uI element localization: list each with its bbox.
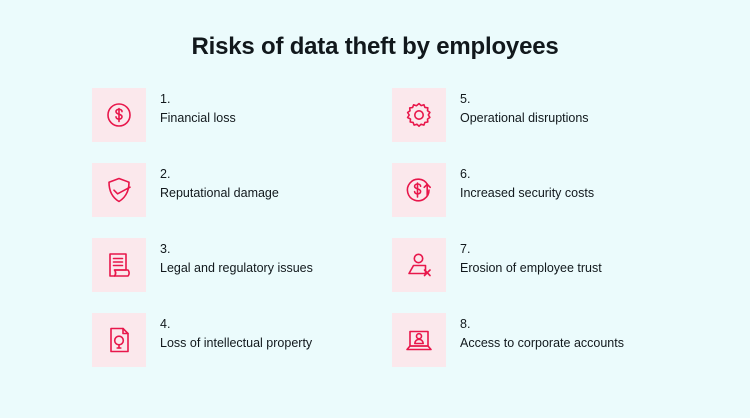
item-text: 8. Access to corporate accounts [460,313,624,351]
item-label: Erosion of employee trust [460,261,602,277]
document-scroll-icon [103,249,135,281]
dollar-circle-arrow-up-icon [403,174,435,206]
person-x-icon [403,249,435,281]
item-label: Access to corporate accounts [460,336,624,352]
shield-check-icon [103,174,135,206]
item-number: 1. [160,93,236,107]
item-label: Loss of intellectual property [160,336,312,352]
icon-tile [92,163,146,217]
item-number: 7. [460,243,602,257]
list-item: 8. Access to corporate accounts [392,313,664,388]
item-text: 3. Legal and regulatory issues [160,238,313,276]
item-label: Financial loss [160,111,236,127]
item-number: 3. [160,243,313,257]
list-item: 6. Increased security costs [392,163,664,238]
document-lightbulb-icon [103,324,135,356]
list-item: 2. Reputational damage [92,163,392,238]
list-item: 1. Financial loss [92,88,392,163]
infographic-root: Risks of data theft by employees 1. Fina… [0,0,750,418]
icon-tile [392,238,446,292]
item-text: 7. Erosion of employee trust [460,238,602,276]
item-label: Legal and regulatory issues [160,261,313,277]
list-item: 4. Loss of intellectual property [92,313,392,388]
list-item: 7. Erosion of employee trust [392,238,664,313]
risk-grid: 1. Financial loss 5. Operational disrupt… [0,88,750,388]
gear-icon [403,99,435,131]
item-number: 4. [160,318,312,332]
icon-tile [392,163,446,217]
icon-tile [92,313,146,367]
item-number: 6. [460,168,594,182]
item-text: 4. Loss of intellectual property [160,313,312,351]
item-text: 6. Increased security costs [460,163,594,201]
icon-tile [92,238,146,292]
list-item: 3. Legal and regulatory issues [92,238,392,313]
item-text: 5. Operational disruptions [460,88,589,126]
item-text: 1. Financial loss [160,88,236,126]
item-label: Increased security costs [460,186,594,202]
item-label: Operational disruptions [460,111,589,127]
item-text: 2. Reputational damage [160,163,279,201]
item-number: 2. [160,168,279,182]
item-label: Reputational damage [160,186,279,202]
icon-tile [392,88,446,142]
item-number: 5. [460,93,589,107]
page-title: Risks of data theft by employees [0,0,750,61]
icon-tile [92,88,146,142]
icon-tile [392,313,446,367]
dollar-circle-icon [103,99,135,131]
item-number: 8. [460,318,624,332]
laptop-person-icon [403,324,435,356]
list-item: 5. Operational disruptions [392,88,664,163]
